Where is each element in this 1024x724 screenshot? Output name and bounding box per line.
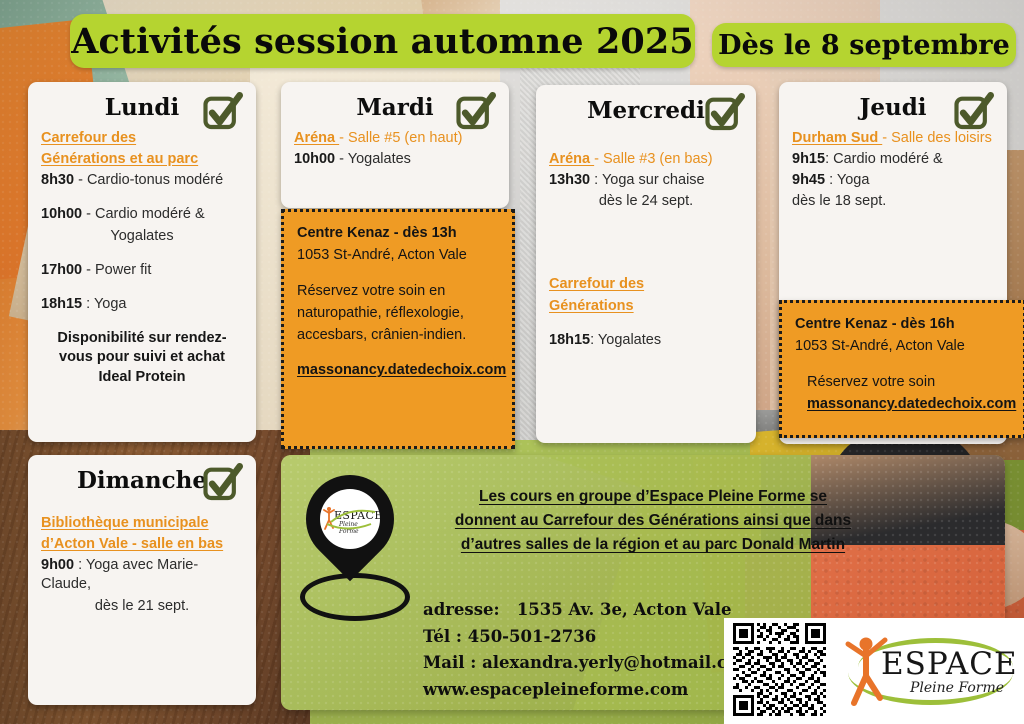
- location-dimanche-l1: Bibliothèque municipale: [41, 515, 209, 531]
- card-header-jeudi: Jeudi: [779, 82, 1007, 121]
- sep-mercredi-0: :: [590, 172, 602, 188]
- location-rest-mardi: - Salle #5 (en haut): [339, 130, 462, 146]
- blurb-line-2: donnent au Carrefour des Générations ain…: [423, 509, 883, 533]
- desc-mercredi-1: Yogalates: [598, 332, 661, 348]
- start-date-badge: Dès le 8 septembre: [712, 23, 1016, 67]
- location-rest-mercredi: - Salle #3 (en bas): [594, 151, 712, 167]
- day-title-mardi: Mardi: [356, 94, 433, 121]
- blurb-line-1: Les cours en groupe d’Espace Pleine Form…: [423, 485, 883, 509]
- time-mardi-0: 10h00: [294, 151, 335, 167]
- brand-tagline: Pleine Forme: [910, 680, 1004, 696]
- location-mercredi: Aréna: [549, 151, 594, 167]
- blurb-line-3: d’autres salles de la région et au parc …: [423, 533, 883, 557]
- card-header-mardi: Mardi: [281, 82, 509, 121]
- desc2-lundi-1: Yogalates: [41, 227, 243, 246]
- sep-mardi-0: -: [335, 151, 348, 167]
- sep-jeudi-1: :: [825, 172, 837, 188]
- day-title-lundi: Lundi: [105, 94, 179, 121]
- time-dimanche-0: 9h00: [41, 557, 74, 573]
- obox-heading-mardi: Centre Kenaz - dès 13h: [297, 225, 457, 241]
- desc-mardi-0: Yogalates: [348, 151, 411, 167]
- contact-phone: Tél : 450-501-2736: [423, 624, 755, 651]
- location-lundi-l1: Carrefour des: [41, 130, 136, 146]
- sep-lundi-2: -: [82, 262, 95, 278]
- contact-address: adresse: 1535 Av. 3e, Acton Vale: [423, 597, 755, 624]
- desc2-dimanche-0: dès le 21 sept.: [41, 597, 243, 616]
- contact-mail[interactable]: Mail : alexandra.yerly@hotmail.com: [423, 650, 755, 677]
- location-dimanche-l2: d’Acton Vale - salle en bas: [41, 536, 223, 552]
- time-lundi-3: 18h15: [41, 296, 82, 312]
- sep-lundi-0: -: [74, 172, 87, 188]
- location-jeudi: Durham Sud: [792, 130, 882, 146]
- day-card-mercredi: Mercredi Aréna - Salle #3 (en bas) 13h30…: [536, 85, 756, 443]
- contact-website[interactable]: www.espacepleineforme.com: [423, 677, 755, 704]
- desc-jeudi-0: Cardio modéré &: [833, 151, 943, 167]
- day-card-dimanche: Dimanche Bibliothèque municipale d’Acton…: [28, 455, 256, 705]
- brand-logo: ESPACE Pleine Forme: [838, 630, 1016, 710]
- location-lundi-l2: Générations et au parc: [41, 151, 198, 167]
- qr-code-icon[interactable]: [733, 623, 826, 716]
- check-mark-icon: [704, 93, 746, 133]
- obox-heading-jeudi: Centre Kenaz - dès 16h: [795, 316, 955, 332]
- desc2-mercredi-0: dès le 24 sept.: [549, 192, 743, 211]
- brand-name: ESPACE: [881, 646, 1018, 682]
- time-lundi-0: 8h30: [41, 172, 74, 188]
- desc-lundi-3: Yoga: [94, 296, 127, 312]
- card-body-mercredi: Aréna - Salle #3 (en bas) 13h30 : Yoga s…: [536, 124, 756, 362]
- location-mardi: Aréna: [294, 130, 339, 146]
- check-mark-icon: [953, 92, 995, 132]
- time-jeudi-0: 9h15: [792, 151, 825, 167]
- day-card-lundi: Lundi Carrefour des Générations et au pa…: [28, 82, 256, 442]
- desc-lundi-2: Power fit: [95, 262, 151, 278]
- day-title-mercredi: Mercredi: [587, 97, 705, 124]
- check-mark-icon: [202, 463, 244, 503]
- sep-jeudi-0: :: [825, 151, 833, 167]
- sep-mercredi-1: :: [590, 332, 598, 348]
- location-rest-jeudi: - Salle des loisirs: [882, 130, 992, 146]
- obox-body1-jeudi: Réservez votre soin: [795, 372, 1010, 392]
- pin-logo: ESPACE Pleine Forme: [321, 500, 379, 538]
- orange-box-jeudi: Centre Kenaz - dès 16h 1053 St-André, Ac…: [779, 300, 1024, 438]
- day-card-mardi: Mardi Aréna - Salle #5 (en haut) 10h00 -…: [281, 82, 509, 208]
- obox-body3-mardi: accesbars, crânien-indien.: [297, 325, 499, 345]
- orange-box-mardi: Centre Kenaz - dès 13h 1053 St-André, Ac…: [281, 209, 515, 449]
- day-title-dimanche: Dimanche: [77, 467, 207, 494]
- location2-mercredi-l1: Carrefour des: [549, 276, 644, 292]
- desc-lundi-1: Cardio modéré &: [95, 206, 205, 222]
- check-mark-icon: [455, 92, 497, 132]
- note-lundi: Disponibilité sur rendez-vous pour suivi…: [41, 329, 243, 388]
- time-mercredi-0: 13h30: [549, 172, 590, 188]
- page-title: Activités session automne 2025: [70, 14, 695, 68]
- day-title-jeudi: Jeudi: [859, 94, 926, 121]
- poster-canvas: Activités session automne 2025 Dès le 8 …: [0, 0, 1024, 724]
- desc-mercredi-0: Yoga sur chaise: [602, 172, 705, 188]
- card-header-lundi: Lundi: [28, 82, 256, 121]
- sep-lundi-1: -: [82, 206, 95, 222]
- map-pin-icon: ESPACE Pleine Forme: [298, 475, 402, 620]
- obox-body1-mardi: Réservez votre soin en: [297, 281, 499, 301]
- obox-link-jeudi[interactable]: massonancy.datedechoix.com: [807, 396, 1016, 412]
- card-header-dimanche: Dimanche: [28, 455, 256, 494]
- sep-lundi-3: :: [82, 296, 94, 312]
- swoosh-icon: [321, 500, 379, 538]
- check-mark-icon: [202, 92, 244, 132]
- obox-link-mardi[interactable]: massonancy.datedechoix.com: [297, 362, 506, 378]
- extra-line-jeudi: dès le 18 sept.: [792, 192, 994, 211]
- desc-lundi-0: Cardio-tonus modéré: [87, 172, 223, 188]
- time-jeudi-1: 9h45: [792, 172, 825, 188]
- location2-mercredi-l2: Générations: [549, 298, 634, 314]
- sep-dimanche-0: :: [74, 557, 86, 573]
- card-body-jeudi: Durham Sud - Salle des loisirs 9h15: Car…: [779, 121, 1007, 224]
- contact-block: adresse: 1535 Av. 3e, Acton Vale Tél : 4…: [423, 597, 755, 704]
- panel-blurb: Les cours en groupe d’Espace Pleine Form…: [423, 485, 883, 557]
- card-body-lundi: Carrefour des Générations et au parc 8h3…: [28, 121, 256, 398]
- card-body-dimanche: Bibliothèque municipale d’Acton Vale - s…: [28, 494, 256, 628]
- time-lundi-2: 17h00: [41, 262, 82, 278]
- time-mercredi-1: 18h15: [549, 332, 590, 348]
- obox-address-mardi: 1053 St-André, Acton Vale: [297, 245, 499, 265]
- card-header-mercredi: Mercredi: [536, 85, 756, 124]
- obox-body2-mardi: naturopathie, réflexologie,: [297, 303, 499, 323]
- obox-address-jeudi: 1053 St-André, Acton Vale: [795, 336, 1010, 356]
- time-lundi-1: 10h00: [41, 206, 82, 222]
- desc-jeudi-1: Yoga: [837, 172, 870, 188]
